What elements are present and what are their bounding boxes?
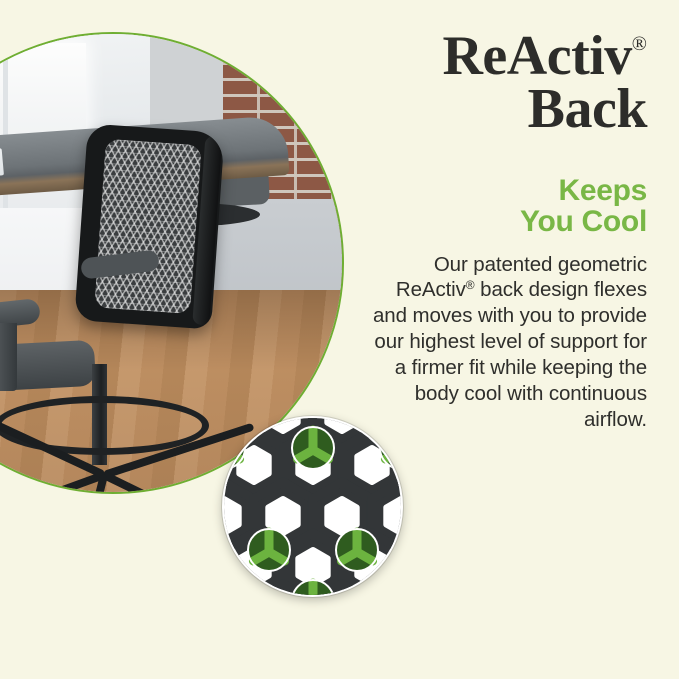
page-title: ReActiv® Back xyxy=(372,0,647,136)
caster xyxy=(201,488,217,494)
product-title-line-2: Back xyxy=(528,78,647,140)
product-feature-card: ReActiv® Back Keeps You Cool Our patente… xyxy=(0,0,679,679)
chair-arm-post xyxy=(0,323,17,392)
feature-description: Our patented geometric ReActiv® back des… xyxy=(372,238,647,433)
feature-heading-line-2: You Cool xyxy=(520,205,647,238)
registered-trademark-icon: ® xyxy=(632,33,647,55)
text-column: ReActiv® Back Keeps You Cool Our patente… xyxy=(372,0,647,679)
base-leg xyxy=(0,472,105,494)
chair-mesh-back xyxy=(74,123,225,329)
chair-mesh-texture xyxy=(94,138,202,314)
feature-heading: Keeps You Cool xyxy=(372,136,647,237)
feature-heading-line-1: Keeps xyxy=(558,174,647,207)
registered-trademark-icon: ® xyxy=(466,278,475,292)
